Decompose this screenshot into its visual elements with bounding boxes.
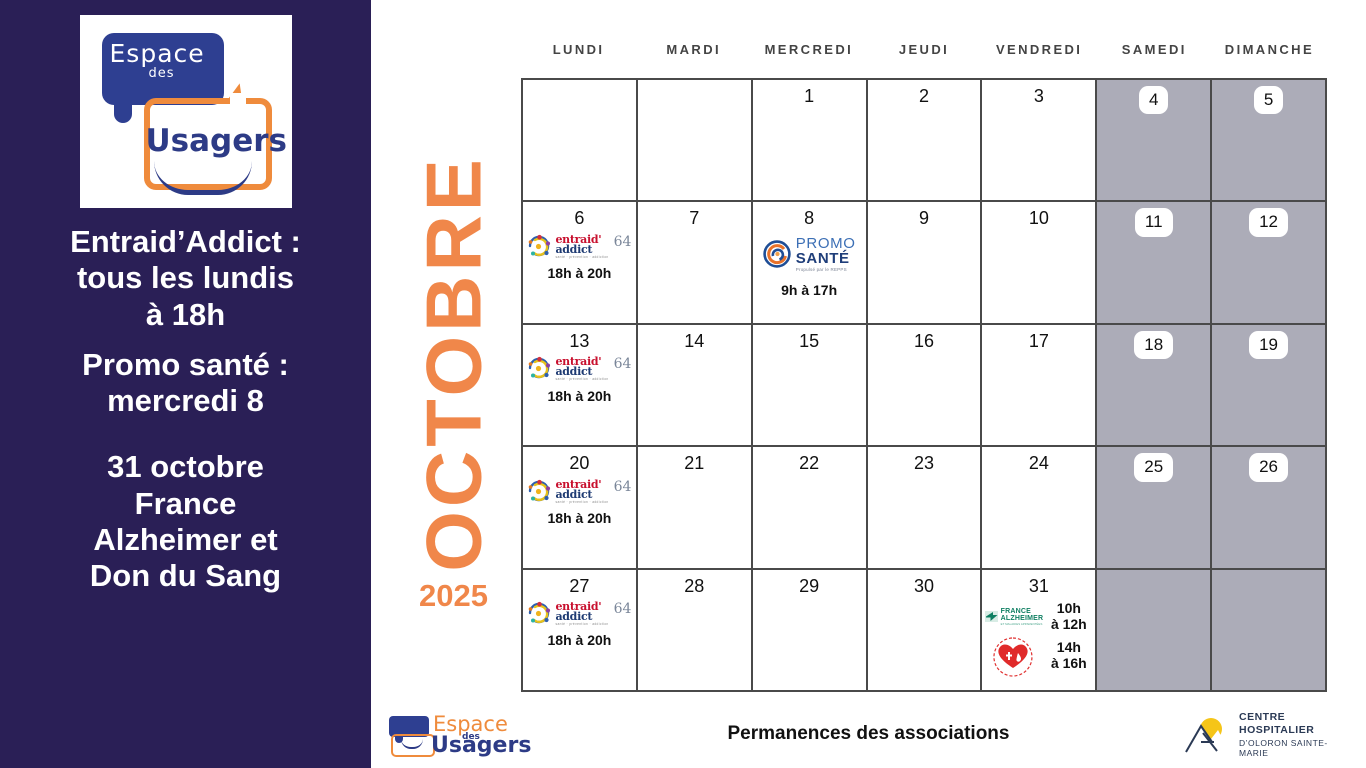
- announcement-promo: Promo santé : mercredi 8: [21, 347, 351, 420]
- promo-sante-emblem: [763, 240, 791, 268]
- entraid-addict-wordmark: entraid'addictsanté · prévention · addic…: [555, 601, 608, 626]
- entraid-addict-wordmark: entraid'addictsanté · prévention · addic…: [555, 479, 608, 504]
- entraid-addict-emblem: [527, 601, 552, 626]
- entraid-addict-emblem-icon: [527, 234, 552, 259]
- day-number: 23: [914, 453, 934, 475]
- day-number: 25: [1134, 453, 1173, 481]
- day-header-mardi: MARDI: [636, 42, 751, 57]
- calendar-day-18[interactable]: 18: [1097, 325, 1212, 447]
- day-number: 20: [569, 453, 589, 475]
- calendar-day-20[interactable]: 20entraid'addictsanté · prévention · add…: [523, 447, 638, 569]
- entraid-tagline: santé · prévention · addiction: [555, 501, 608, 504]
- bubble-mask: [230, 93, 246, 109]
- france-alzheimer-wordmark: FRANCEALZHEIMERET MALADIES APPARENTÉES: [1001, 608, 1044, 625]
- calendar-day-5[interactable]: 5: [1212, 80, 1327, 202]
- day-number: 15: [799, 331, 819, 353]
- event-promo-sante[interactable]: PROMOSANTÉPropulsé par le REPPS9h à 17h: [763, 236, 856, 298]
- day-number: 12: [1249, 208, 1288, 236]
- calendar-day-3[interactable]: 3: [982, 80, 1097, 202]
- day-number: 19: [1249, 331, 1288, 359]
- entraid-addict-emblem: [527, 479, 552, 504]
- calendar-day-10[interactable]: 10: [982, 202, 1097, 324]
- day-header-vendredi: VENDREDI: [982, 42, 1097, 57]
- calendar-day-26[interactable]: 26: [1212, 447, 1327, 569]
- entraid-addict-emblem: [527, 356, 552, 381]
- event-time-range: 10hà 12h: [1044, 601, 1093, 632]
- day-number: 22: [799, 453, 819, 475]
- event-time: 18h à 20h: [548, 510, 612, 526]
- entraid-tagline: santé · prévention · addiction: [555, 256, 608, 259]
- espace-des-usagers-logo: Espace des Usagers: [80, 15, 292, 208]
- event-time: 18h à 20h: [548, 265, 612, 281]
- calendar-day-13[interactable]: 13entraid'addictsanté · prévention · add…: [523, 325, 638, 447]
- calendar-day-empty[interactable]: [523, 80, 638, 202]
- calendar-day-12[interactable]: 12: [1212, 202, 1327, 324]
- day-number: 16: [914, 331, 934, 353]
- calendar-day-14[interactable]: 14: [638, 325, 753, 447]
- calendar-day-31[interactable]: 31FRANCEALZHEIMERET MALADIES APPARENTÉES…: [982, 570, 1097, 692]
- day-header-dimanche: DIMANCHE: [1212, 42, 1327, 57]
- entraid-addict-logo: entraid'addictsanté · prévention · addic…: [527, 601, 631, 626]
- entraid-addict-emblem: [527, 234, 552, 259]
- event-time-start: 14h: [1057, 640, 1081, 656]
- promo-sante-wordmark: PROMOSANTÉPropulsé par le REPPS: [796, 236, 856, 272]
- event-entraid-addict[interactable]: entraid'addictsanté · prévention · addic…: [527, 601, 631, 648]
- announcement-entraid: Entraid’Addict : tous les lundis à 18h: [21, 224, 351, 333]
- entraid-department-number: 64: [614, 234, 632, 250]
- day-number: 9: [919, 208, 929, 230]
- don-du-sang-emblem: [991, 635, 1035, 677]
- entraid-addict-logo: entraid'addictsanté · prévention · addic…: [527, 356, 631, 381]
- sidebar: Espace des Usagers Entraid’Addict : tous…: [0, 0, 371, 768]
- entraid-addict-wordmark: entraid'addictsanté · prévention · addic…: [555, 234, 608, 259]
- speech-bubble-tail-icon: [114, 101, 132, 123]
- day-header-mercredi: MERCREDI: [751, 42, 866, 57]
- day-number: 24: [1029, 453, 1049, 475]
- calendar-day-2[interactable]: 2: [868, 80, 983, 202]
- day-header-samedi: SAMEDI: [1097, 42, 1212, 57]
- day-number: 13: [569, 331, 589, 353]
- event-entraid-addict[interactable]: entraid'addictsanté · prévention · addic…: [527, 234, 631, 281]
- event-entraid-addict[interactable]: entraid'addictsanté · prévention · addic…: [527, 479, 631, 526]
- calendar-day-8[interactable]: 8PROMOSANTÉPropulsé par le REPPS9h à 17h: [753, 202, 868, 324]
- day-number: 3: [1034, 86, 1044, 108]
- entraid-department-number: 64: [614, 479, 632, 495]
- calendar-day-6[interactable]: 6entraid'addictsanté · prévention · addi…: [523, 202, 638, 324]
- event-time-range: 14hà 16h: [1044, 640, 1093, 671]
- month-title: OCTOBRE: [409, 129, 500, 599]
- sun-mountain-icon: [1181, 715, 1233, 755]
- calendar-day-22[interactable]: 22: [753, 447, 868, 569]
- calendar-day-30[interactable]: 30: [868, 570, 983, 692]
- promo-sante-logo: PROMOSANTÉPropulsé par le REPPS: [763, 236, 856, 272]
- calendar-day-29[interactable]: 29: [753, 570, 868, 692]
- day-header-jeudi: JEUDI: [866, 42, 981, 57]
- day-number: 1: [804, 86, 814, 108]
- logo-des-text: des: [149, 66, 175, 81]
- calendar-day-25[interactable]: 25: [1097, 447, 1212, 569]
- calendar-day-19[interactable]: 19: [1212, 325, 1327, 447]
- entraid-tagline: santé · prévention · addiction: [555, 378, 608, 381]
- day-number: 18: [1134, 331, 1173, 359]
- day-number: 4: [1139, 86, 1168, 114]
- footer-logo-usagers-text: Usagers: [431, 733, 531, 758]
- calendar-panel: OCTOBRE 2025 LUNDI MARDI MERCREDI JEUDI …: [371, 0, 1366, 768]
- footer: Permanences des associations Espace des …: [371, 700, 1366, 768]
- day-number: 30: [914, 576, 934, 598]
- day-number: 10: [1029, 208, 1049, 230]
- hospital-name: CENTRE HOSPITALIER D’OLORON SAINTE-MARIE: [1239, 711, 1356, 759]
- day-number: 5: [1254, 86, 1283, 114]
- year-label: 2025: [419, 578, 488, 614]
- day-number: 14: [684, 331, 704, 353]
- event-time-end: à 12h: [1051, 617, 1087, 633]
- logo-espace-text: Espace: [110, 39, 205, 68]
- calendar-day-empty[interactable]: [1097, 570, 1212, 692]
- entraid-word-2: addict: [555, 489, 608, 500]
- spacer: [21, 419, 351, 449]
- event-don-du-sang[interactable]: 14hà 16h: [982, 635, 1095, 677]
- event-time: 18h à 20h: [548, 388, 612, 404]
- entraid-addict-emblem-icon: [527, 356, 552, 381]
- calendar-grid: 123456entraid'addictsanté · prévention ·…: [521, 78, 1327, 692]
- promo-tagline: Propulsé par le REPPS: [796, 268, 856, 273]
- day-number: 28: [684, 576, 704, 598]
- calendar-day-9[interactable]: 9: [868, 202, 983, 324]
- poster-root: Espace des Usagers Entraid’Addict : tous…: [0, 0, 1366, 768]
- day-number: 27: [569, 576, 589, 598]
- entraid-word-2: addict: [555, 366, 608, 377]
- speech-bubble-icon: Espace des: [102, 33, 224, 105]
- calendar-day-24[interactable]: 24: [982, 447, 1097, 569]
- sidebar-announcements: Entraid’Addict : tous les lundis à 18h P…: [21, 224, 351, 594]
- day-number: 11: [1135, 208, 1173, 236]
- day-number: 7: [689, 208, 699, 230]
- entraid-addict-emblem-icon: [527, 479, 552, 504]
- calendar-day-4[interactable]: 4: [1097, 80, 1212, 202]
- hospital-name-line1: CENTRE HOSPITALIER: [1239, 711, 1356, 737]
- calendar-day-7[interactable]: 7: [638, 202, 753, 324]
- entraid-addict-emblem-icon: [527, 601, 552, 626]
- entraid-addict-wordmark: entraid'addictsanté · prévention · addic…: [555, 356, 608, 381]
- france-alzheimer-emblem-icon: [984, 610, 999, 623]
- event-time-end: à 16h: [1051, 656, 1087, 672]
- calendar-day-23[interactable]: 23: [868, 447, 983, 569]
- entraid-word-2: addict: [555, 244, 608, 255]
- calendar-day-16[interactable]: 16: [868, 325, 983, 447]
- day-number: 17: [1029, 331, 1049, 353]
- calendar-day-15[interactable]: 15: [753, 325, 868, 447]
- entraid-addict-logo: entraid'addictsanté · prévention · addic…: [527, 234, 631, 259]
- calendar-day-empty[interactable]: [638, 80, 753, 202]
- day-number: 21: [684, 453, 704, 475]
- logo-usagers-text: Usagers: [146, 123, 276, 159]
- announcement-31-octobre: 31 octobre France Alzheimer et Don du Sa…: [21, 449, 351, 594]
- calendar-day-17[interactable]: 17: [982, 325, 1097, 447]
- entraid-tagline: santé · prévention · addiction: [555, 623, 608, 626]
- don-du-sang-logo: [984, 635, 1042, 677]
- day-number: 2: [919, 86, 929, 108]
- promo-word-2: SANTÉ: [796, 251, 856, 266]
- calendar-day-11[interactable]: 11: [1097, 202, 1212, 324]
- entraid-word-2: addict: [555, 611, 608, 622]
- promo-word-1: PROMO: [796, 236, 856, 251]
- day-header-lundi: LUNDI: [521, 42, 636, 57]
- calendar-day-27[interactable]: 27entraid'addictsanté · prévention · add…: [523, 570, 638, 692]
- hospital-name-line2: D’OLORON SAINTE-MARIE: [1239, 738, 1356, 759]
- france-alzheimer-logo: FRANCEALZHEIMERET MALADIES APPARENTÉES: [984, 608, 1042, 625]
- event-entraid-addict[interactable]: entraid'addictsanté · prévention · addic…: [527, 356, 631, 403]
- entraid-department-number: 64: [614, 601, 632, 617]
- day-number: 26: [1249, 453, 1288, 481]
- day-number: 6: [574, 208, 584, 230]
- alzheimer-tagline: ET MALADIES APPARENTÉES: [1001, 623, 1044, 626]
- entraid-department-number: 64: [614, 356, 632, 372]
- promo-sante-spiral-icon: [763, 240, 791, 268]
- day-number: 8: [804, 208, 814, 230]
- entraid-addict-logo: entraid'addictsanté · prévention · addic…: [527, 479, 631, 504]
- france-alzheimer-lockup: FRANCEALZHEIMERET MALADIES APPARENTÉES: [984, 608, 1044, 625]
- calendar-day-28[interactable]: 28: [638, 570, 753, 692]
- event-france-alzheimer[interactable]: FRANCEALZHEIMERET MALADIES APPARENTÉES10…: [982, 601, 1095, 632]
- event-time: 9h à 17h: [781, 282, 837, 298]
- calendar-day-empty[interactable]: [1212, 570, 1327, 692]
- calendar-day-1[interactable]: 1: [753, 80, 868, 202]
- footer-espace-des-usagers-logo: Espace des Usagers: [387, 710, 517, 758]
- centre-hospitalier-logo: CENTRE HOSPITALIER D’OLORON SAINTE-MARIE: [1181, 712, 1356, 758]
- calendar-day-headers: LUNDI MARDI MERCREDI JEUDI VENDREDI SAME…: [521, 42, 1327, 57]
- event-time-start: 10h: [1057, 601, 1081, 617]
- day-number: 29: [799, 576, 819, 598]
- france-alzheimer-emblem: [984, 610, 999, 623]
- event-time: 18h à 20h: [548, 632, 612, 648]
- don-du-sang-heart-icon: [991, 635, 1035, 677]
- calendar-day-21[interactable]: 21: [638, 447, 753, 569]
- day-number: 31: [1029, 576, 1049, 598]
- alzheimer-word-1: FRANCE: [1001, 608, 1044, 615]
